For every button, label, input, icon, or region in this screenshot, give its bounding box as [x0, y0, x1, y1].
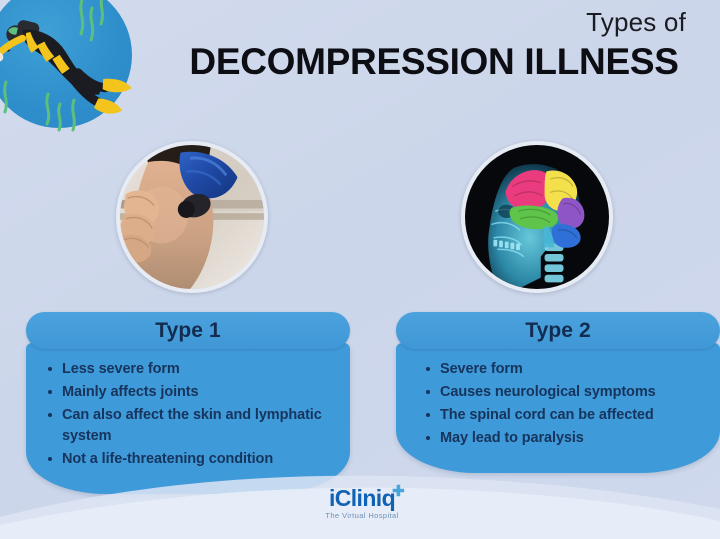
header: Types of DECOMPRESSION ILLNESS: [160, 8, 708, 83]
logo-wordmark: iCliniq ✚: [329, 487, 395, 510]
list-item: Mainly affects joints: [62, 382, 336, 403]
panel-type-1-title: Type 1: [155, 319, 221, 343]
logo-tagline: The Virtual Hospital: [306, 512, 418, 520]
brain-scan-photo: [461, 141, 613, 293]
knee-joint-image: [120, 145, 264, 289]
kicker-text: Types of: [160, 8, 708, 37]
list-item: Not a life-threatening condition: [62, 449, 336, 470]
list-item: Can also affect the skin and lymphatic s…: [62, 405, 336, 447]
iCliniq-logo[interactable]: iCliniq ✚ The Virtual Hospital: [306, 487, 418, 520]
list-item: The spinal cord can be affected: [440, 405, 706, 426]
panel-type-1: Type 1 Less severe form Mainly affects j…: [26, 312, 350, 494]
panel-type-1-header: Type 1: [26, 312, 350, 349]
panel-type-2-header: Type 2: [396, 312, 720, 349]
panel-type-1-list: Less severe form Mainly affects joints C…: [36, 359, 340, 470]
list-item: Causes neurological symptoms: [440, 382, 706, 403]
medical-cross-icon: ✚: [392, 484, 404, 499]
infographic-canvas: Types of DECOMPRESSION ILLNESS: [0, 0, 720, 539]
brain-scan-image: [465, 145, 609, 289]
panel-type-2: Type 2 Severe form Causes neurological s…: [396, 312, 720, 473]
panel-type-1-body: Less severe form Mainly affects joints C…: [26, 343, 350, 494]
page-title: DECOMPRESSION ILLNESS: [160, 41, 708, 84]
list-item: May lead to paralysis: [440, 428, 706, 449]
knee-joint-photo: [116, 141, 268, 293]
logo-text: iCliniq: [329, 485, 395, 511]
list-item: Less severe form: [62, 359, 336, 380]
list-item: Severe form: [440, 359, 706, 380]
diver-illustration: [0, 0, 140, 134]
panel-type-2-title: Type 2: [525, 319, 591, 343]
panel-type-2-body: Severe form Causes neurological symptoms…: [396, 343, 720, 473]
panel-type-2-list: Severe form Causes neurological symptoms…: [406, 359, 710, 449]
